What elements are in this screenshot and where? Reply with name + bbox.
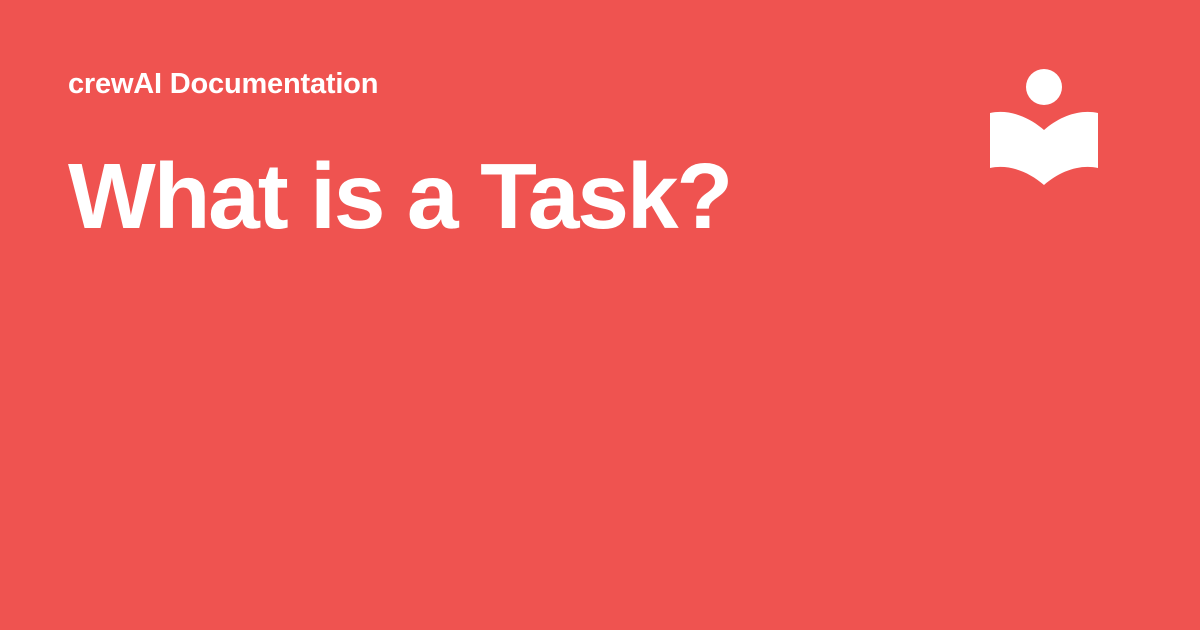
- site-name: crewAI Documentation: [68, 66, 928, 102]
- card-content: crewAI Documentation What is a Task?: [68, 66, 928, 248]
- og-card: crewAI Documentation What is a Task?: [0, 0, 1200, 630]
- page-title: What is a Task?: [68, 144, 928, 248]
- open-book-reader-icon: [986, 64, 1102, 192]
